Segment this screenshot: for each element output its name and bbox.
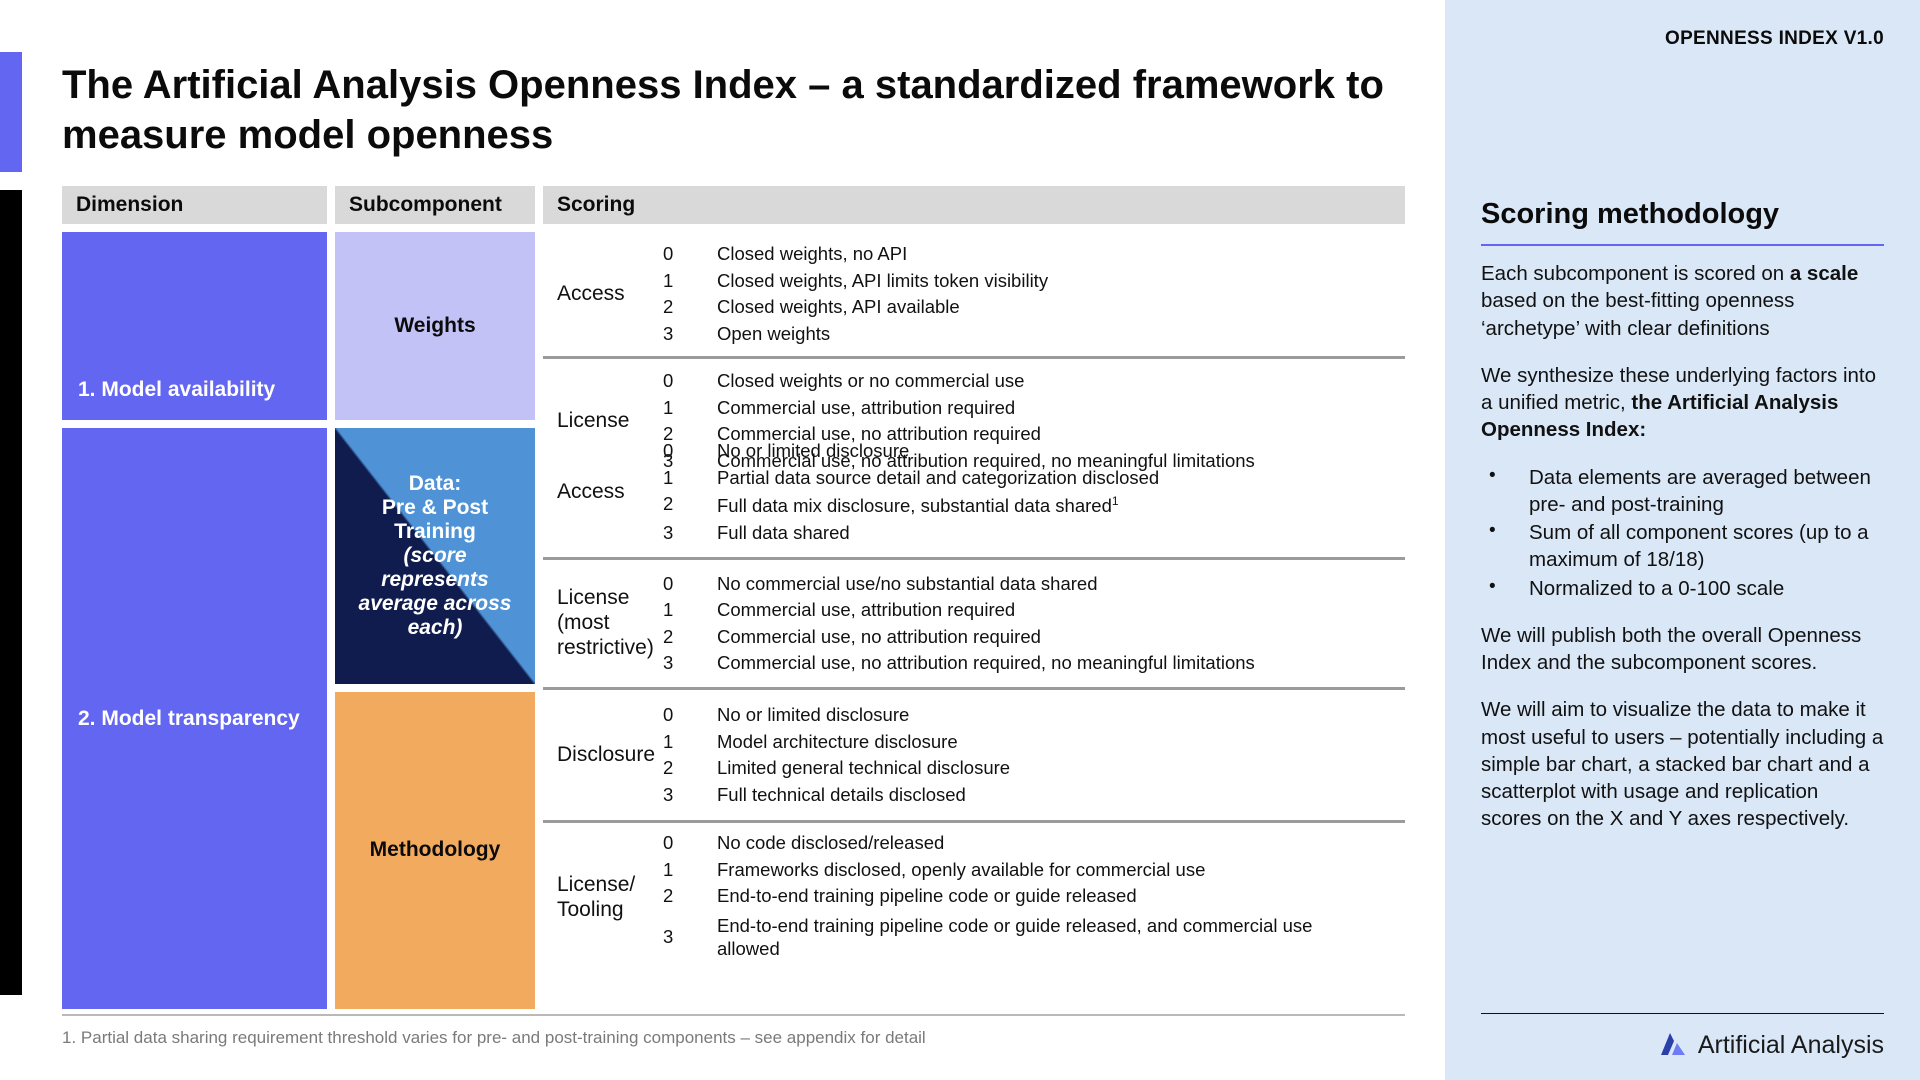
footnote: 1. Partial data sharing requirement thre… [62,1028,1405,1048]
subcomponent-column: Weights [335,232,535,420]
score-value: 1 [655,272,717,291]
score-description: No or limited disclosure [717,706,1405,725]
score-description: Full data mix disclosure, substantial da… [717,495,1405,516]
table-section-model-availability: 1. Model availability Weights Access 0Cl… [62,232,1405,420]
openness-index-table: Dimension Subcomponent Scoring 1. Model … [62,186,1405,1009]
table-row: 3Full technical details disclosed [655,782,1405,809]
score-value: 3 [655,786,717,805]
score-block: License/ Tooling 0No code disclosed/rele… [543,820,1405,972]
score-description: Closed weights or no commercial use [717,372,1405,391]
table-row: 2End-to-end training pipeline code or gu… [655,883,1405,910]
data-note-line: each) [408,616,463,640]
score-value: 1 [655,861,717,880]
data-note-line: average across [359,592,512,616]
score-block: Access 0Closed weights, no API 1Closed w… [543,232,1405,356]
score-description: Open weights [717,325,1405,344]
score-description: Commercial use, attribution required [717,399,1405,418]
left-black-bar [0,190,22,995]
panel-paragraph-3: We will publish both the overall Opennes… [1481,622,1884,677]
table-row: 2Full data mix disclosure, substantial d… [655,491,1405,520]
table-row: 3Commercial use, no attribution required… [655,650,1405,677]
score-block-label: License (most restrictive) [543,586,655,660]
score-block-label: Access [543,480,655,505]
table-row: 3End-to-end training pipeline code or gu… [655,910,1405,965]
score-block: License (most restrictive) 0No commercia… [543,557,1405,687]
artificial-analysis-logo-icon [1658,1029,1688,1062]
subcomponent-column: Data: Pre & Post Training (score represe… [335,428,535,1009]
column-header-subcomponent: Subcomponent [335,186,535,224]
list-item: Data elements are averaged between pre- … [1481,464,1884,519]
score-value: 1 [655,733,717,752]
score-description: Partial data source detail and categoriz… [717,469,1405,488]
table-row: 1Frameworks disclosed, openly available … [655,857,1405,884]
table-row: 1Commercial use, attribution required [655,597,1405,624]
scoring-column: Access 0No or limited disclosure 1Partia… [543,428,1405,1009]
score-value: 1 [655,601,717,620]
score-description: Commercial use, attribution required [717,601,1405,620]
table-row: 2Limited general technical disclosure [655,755,1405,782]
panel-heading: Scoring methodology [1481,198,1884,231]
score-description: Closed weights, API available [717,298,1405,317]
subcomponent-cell-methodology: Methodology [335,692,535,1009]
table-row: 0No or limited disclosure [655,438,1405,465]
score-rows: 0No or limited disclosure 1Model archite… [655,702,1405,808]
column-header-dimension: Dimension [62,186,327,224]
score-value: 1 [655,399,717,418]
score-description: Model architecture disclosure [717,733,1405,752]
list-item: Sum of all component scores (up to a max… [1481,519,1884,574]
slide-root: OPENNESS INDEX V1.0 Scoring methodology … [0,0,1920,1080]
brand-logo-text: Artificial Analysis [1698,1031,1884,1060]
column-header-scoring: Scoring [543,186,1405,224]
score-block-label: License/ Tooling [543,873,655,923]
score-rows: 0No code disclosed/released 1Frameworks … [655,830,1405,965]
score-description: Limited general technical disclosure [717,759,1405,778]
panel-paragraph-4: We will aim to visualize the data to mak… [1481,696,1884,832]
score-description: Frameworks disclosed, openly available f… [717,861,1405,880]
score-block: Disclosure 0No or limited disclosure 1Mo… [543,687,1405,820]
table-row: 1Partial data source detail and categori… [655,465,1405,492]
panel-kicker: OPENNESS INDEX V1.0 [1481,28,1884,50]
dimension-cell: 1. Model availability [62,232,327,420]
table-header-row: Dimension Subcomponent Scoring [62,186,1405,224]
table-row: 3Full data shared [655,520,1405,547]
score-value: 0 [655,372,717,391]
subcomponent-cell-data: Data: Pre & Post Training (score represe… [335,428,535,684]
score-block-label: Access [543,282,655,307]
score-value: 1 [655,469,717,488]
score-rows: 0No or limited disclosure 1Partial data … [655,438,1405,546]
score-value: 2 [655,495,717,516]
table-row: 1Model architecture disclosure [655,729,1405,756]
table-row: 2Commercial use, no attribution required [655,624,1405,651]
panel-paragraph-2: We synthesize these underlying factors i… [1481,362,1884,444]
panel-paragraph-1: Each subcomponent is scored on a scale b… [1481,260,1884,342]
panel-p1-part-c: based on the best-fitting openness ‘arch… [1481,289,1794,339]
footnote-marker: 1 [1112,494,1119,508]
panel-divider [1481,244,1884,246]
score-value: 2 [655,759,717,778]
scoring-methodology-panel: OPENNESS INDEX V1.0 Scoring methodology … [1445,0,1920,1080]
subcomponent-cell-weights: Weights [335,232,535,420]
score-description: No or limited disclosure [717,442,1405,461]
score-description: Commercial use, no attribution required,… [717,654,1405,673]
panel-p1-part-b: a scale [1790,262,1858,285]
dimension-cell: 2. Model transparency [62,428,327,1009]
score-rows: 0Closed weights, no API 1Closed weights,… [655,241,1405,347]
data-note-line: represents [381,568,488,592]
score-value: 2 [655,887,717,906]
score-description: Full data shared [717,524,1405,543]
scoring-column: Access 0Closed weights, no API 1Closed w… [543,232,1405,420]
data-note-line: (score [403,544,466,568]
score-value: 0 [655,442,717,461]
score-description-text: Full data mix disclosure, substantial da… [717,496,1112,517]
score-description: No code disclosed/released [717,834,1405,853]
table-row: 0No code disclosed/released [655,830,1405,857]
table-row: 0No or limited disclosure [655,702,1405,729]
score-block: Access 0No or limited disclosure 1Partia… [543,428,1405,557]
score-description: Closed weights, API limits token visibil… [717,272,1405,291]
score-description: End-to-end training pipeline code or gui… [717,887,1405,906]
left-accent-bar [0,52,22,172]
score-value: 0 [655,706,717,725]
table-row: 2Closed weights, API available [655,294,1405,321]
data-label-line: Pre & Post [382,496,488,520]
score-value: 2 [655,298,717,317]
score-value: 0 [655,575,717,594]
score-rows: 0No commercial use/no substantial data s… [655,571,1405,677]
score-value: 3 [655,524,717,543]
table-row: 1Closed weights, API limits token visibi… [655,268,1405,295]
list-item: Normalized to a 0-100 scale [1481,575,1884,602]
score-value: 3 [655,928,717,947]
score-value: 0 [655,834,717,853]
score-description: No commercial use/no substantial data sh… [717,575,1405,594]
panel-bullet-list: Data elements are averaged between pre- … [1481,464,1884,602]
panel-p1-part-a: Each subcomponent is scored on [1481,262,1790,285]
table-row: 0Closed weights, no API [655,241,1405,268]
score-description: Commercial use, no attribution required [717,628,1405,647]
score-value: 2 [655,628,717,647]
score-value: 0 [655,245,717,264]
table-row: 0No commercial use/no substantial data s… [655,571,1405,598]
table-row: 3Open weights [655,321,1405,348]
data-label-line: Training [394,520,476,544]
data-label-line: Data: [409,472,462,496]
score-block-label: Disclosure [543,743,655,768]
score-description: Full technical details disclosed [717,786,1405,805]
brand-logo: Artificial Analysis [1658,1029,1884,1062]
score-value: 3 [655,654,717,673]
page-title: The Artificial Analysis Openness Index –… [62,60,1407,160]
score-description: Closed weights, no API [717,245,1405,264]
table-row: 1Commercial use, attribution required [655,395,1405,422]
panel-footer-divider [1481,1013,1884,1014]
table-section-model-transparency: 2. Model transparency Data: Pre & Post T… [62,428,1405,1009]
table-row: 0Closed weights or no commercial use [655,368,1405,395]
panel-body: Each subcomponent is scored on a scale b… [1481,260,1884,833]
score-value: 3 [655,325,717,344]
score-description: End-to-end training pipeline code or gui… [717,914,1332,961]
footnote-divider [62,1014,1405,1016]
